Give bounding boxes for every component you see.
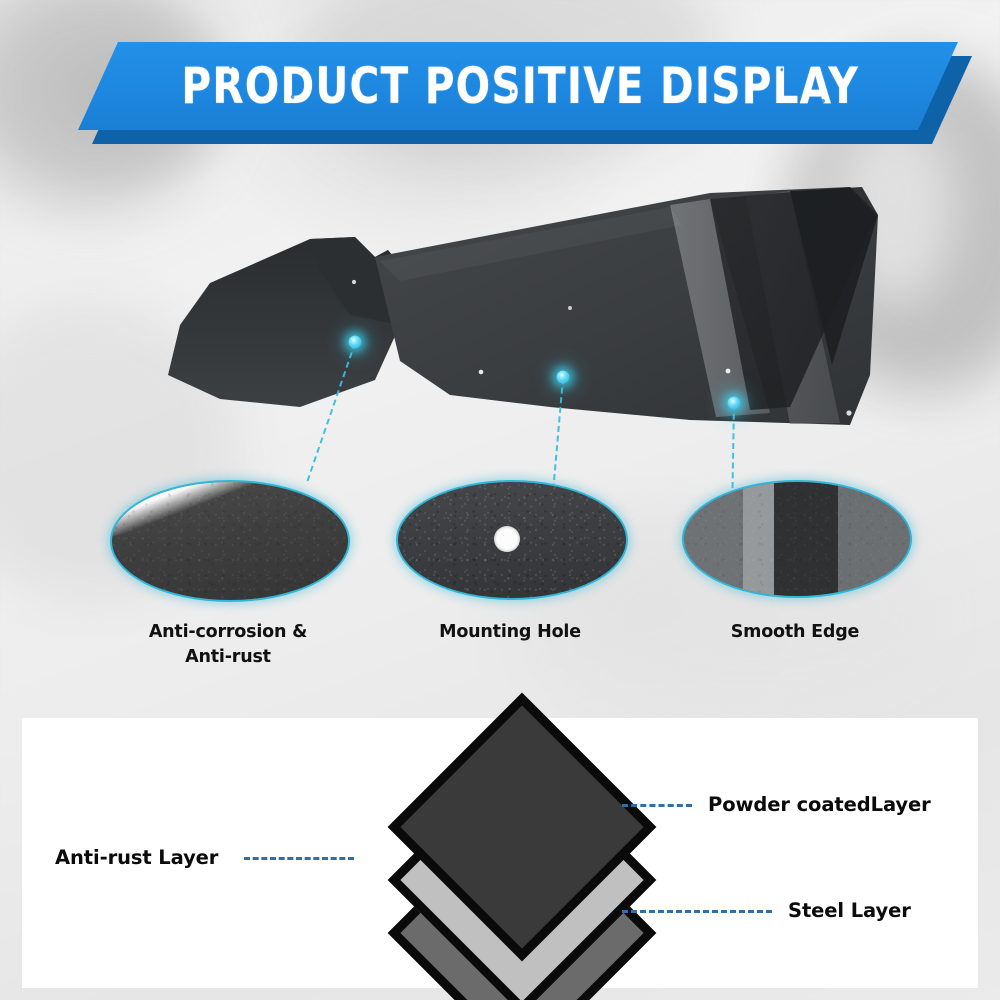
product-display-page: PRODUCT POSITIVE DISPLAY (0, 0, 1000, 1000)
hotspot-marker-smooth-edge[interactable] (728, 397, 741, 410)
layer-dash-powder-coated (622, 804, 692, 807)
callout-ellipse-anti-corrosion (110, 480, 350, 602)
surface-grain (112, 482, 348, 600)
layer-label-anti-rust: Anti-rust Layer (55, 846, 218, 869)
surface-grain (684, 482, 910, 596)
hotspot-marker-mounting-hole[interactable] (557, 371, 570, 384)
hotspot-marker-anti-corrosion[interactable] (349, 336, 362, 349)
callout-smooth-edge[interactable] (682, 480, 908, 594)
banner-shape: PRODUCT POSITIVE DISPLAY (78, 42, 958, 130)
layer-label-powder-coated: Powder coatedLayer (708, 793, 931, 816)
callout-ellipse-mounting-hole (396, 480, 628, 600)
layer-dash-steel (622, 910, 772, 913)
callout-ellipse-smooth-edge (682, 480, 912, 598)
callout-anti-corrosion[interactable] (110, 480, 346, 598)
layer-dash-anti-rust (244, 857, 354, 860)
mounting-hole-shape (494, 526, 520, 552)
caption-line-1: Smooth Edge (615, 620, 975, 645)
header-banner: PRODUCT POSITIVE DISPLAY (0, 38, 1000, 150)
skid-plate-illustration (150, 175, 890, 450)
caption-line-2: Anti-rust (48, 645, 408, 670)
layer-structure-panel: Powder coatedLayer Anti-rust Layer Steel… (22, 718, 978, 988)
callout-mounting-hole[interactable] (396, 480, 624, 596)
layer-label-steel: Steel Layer (788, 899, 911, 922)
product-image (150, 175, 890, 450)
page-title: PRODUCT POSITIVE DISPLAY (181, 57, 859, 116)
callout-caption-smooth-edge: Smooth Edge (615, 620, 975, 645)
